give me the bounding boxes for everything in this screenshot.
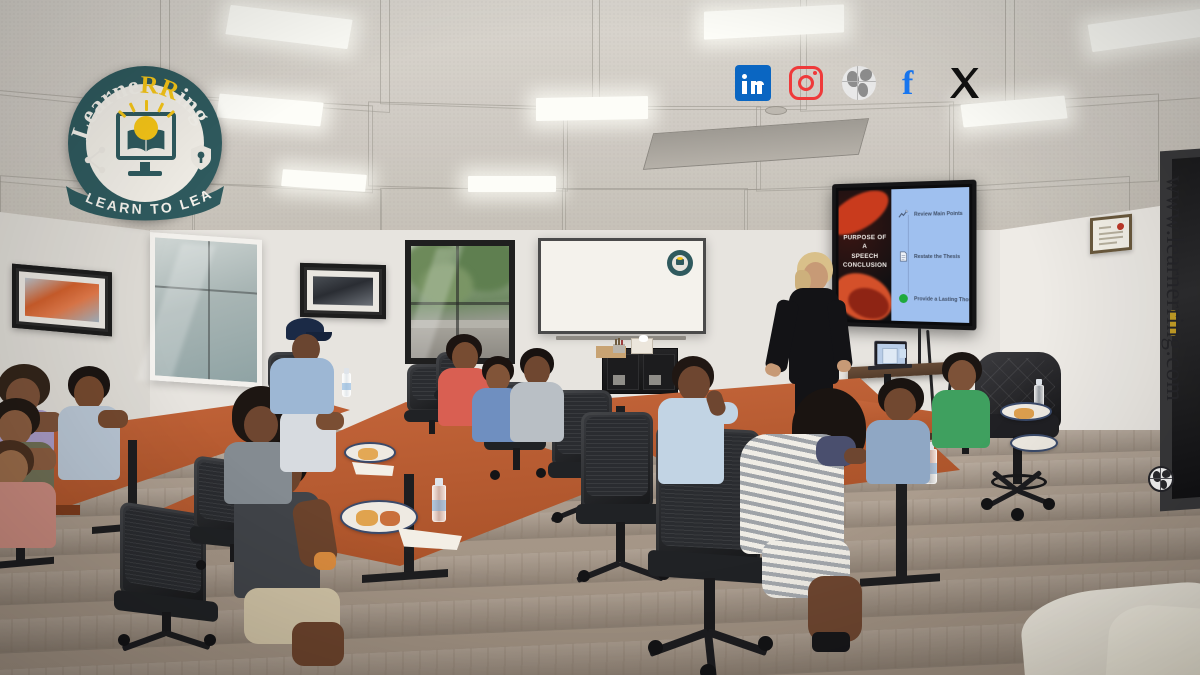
ceiling-light [468, 176, 556, 192]
adult-attendee [272, 318, 342, 410]
aircraft-photo [300, 263, 386, 319]
network-node-icon [82, 142, 108, 178]
student [862, 378, 940, 486]
student [652, 356, 742, 506]
linkedin-icon[interactable] [733, 63, 773, 103]
x-twitter-icon[interactable] [945, 63, 985, 103]
student [930, 352, 1000, 448]
shield-icon [190, 144, 212, 172]
logo-tagline-banner: LEARN TO LEAD [62, 174, 228, 224]
facebook-icon[interactable]: f [892, 63, 932, 103]
globe-icon[interactable] [839, 63, 879, 103]
social-icon-bar: f [733, 58, 991, 108]
student [56, 366, 132, 484]
website-url: www.learnerring.com [1160, 176, 1188, 401]
paper-plate [1010, 434, 1058, 452]
tissue-box [631, 338, 653, 354]
instagram-icon[interactable] [786, 63, 826, 103]
paper-plate [344, 442, 396, 463]
paper-plate [340, 500, 418, 534]
slide-bullet-text: Restate the Thesis [914, 253, 960, 259]
whiteboard-logo-decal [667, 250, 693, 276]
website-globe-icon [1148, 466, 1174, 492]
presenter-right-hand [837, 360, 851, 372]
interior-window [150, 232, 262, 388]
laptop-screen [874, 341, 907, 367]
slide-bullet-2: Restate the Thesis [898, 251, 965, 262]
ceiling-light [536, 96, 648, 121]
helicopter-photo [12, 264, 112, 337]
chart-line-icon [898, 209, 909, 220]
photo-scene: PURPOSE OF A SPEECH CONCLUSION Review Ma… [0, 0, 1200, 675]
water-bottle [431, 476, 447, 522]
slide-right-panel: Review Main Points Restate the Thesis [892, 187, 970, 323]
framed-certificate [1090, 214, 1132, 254]
green-dot-icon [898, 293, 909, 304]
slide-bullet-text: Review Main Points [914, 210, 963, 217]
learnerring-logo: LearneRRing [62, 66, 228, 228]
paper-plate [1000, 402, 1052, 421]
student [740, 388, 872, 658]
ceiling-tile [380, 0, 600, 112]
slide-bullet-1: Review Main Points [898, 208, 965, 220]
sun-icon [134, 116, 158, 140]
whiteboard [538, 238, 706, 334]
supply-cup [612, 340, 626, 352]
slide-bullet-3: Provide a Lasting Thought [898, 293, 965, 305]
document-icon [898, 251, 909, 262]
student [508, 348, 570, 442]
slide-bullet-text: Provide a Lasting Thought [914, 296, 969, 303]
